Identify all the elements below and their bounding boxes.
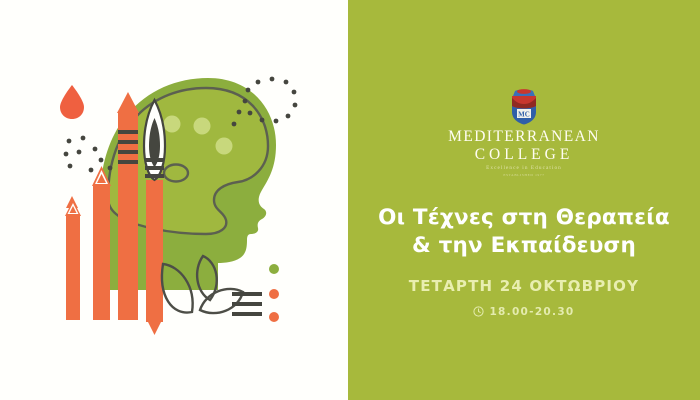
logo-subtagline: ESTABLISHED 1977 xyxy=(503,173,544,177)
logo-line-mediterranean: MEDITERRANEAN xyxy=(448,129,600,145)
event-title-line-1: Οι Τέχνες στη Θεραπεία xyxy=(364,204,684,232)
content-panel: MC MEDITERRANEAN COLLEGE Excellence in E… xyxy=(348,0,700,400)
paintbrush xyxy=(144,100,165,335)
event-title: Οι Τέχνες στη Θεραπεία & την Εκπαίδευση xyxy=(364,204,684,261)
event-poster: MC MEDITERRANEAN COLLEGE Excellence in E… xyxy=(0,0,700,400)
pencil-small xyxy=(65,200,81,320)
logo-tagline: Excellence in Education xyxy=(486,165,562,171)
crest-initials: MC xyxy=(518,110,530,118)
event-title-line-2: & την Εκπαίδευση xyxy=(364,232,684,260)
pencil-tall xyxy=(117,92,139,320)
event-time-row: 18.00-20.30 xyxy=(473,306,574,318)
logo-line-college: COLLEGE xyxy=(475,147,574,163)
illustration-panel xyxy=(0,0,348,400)
paint-well xyxy=(164,116,181,133)
paint-well xyxy=(216,138,233,155)
pencil-medium xyxy=(92,166,111,320)
event-date: ΤΕΤΑΡΤΗ 24 ΟΚΤΩΒΡΙΟΥ xyxy=(409,277,639,295)
clock-icon xyxy=(473,306,484,317)
dot-orange xyxy=(269,312,279,322)
art-therapy-head-illustration xyxy=(0,0,348,400)
water-drop xyxy=(60,85,84,119)
mediterranean-college-crest-icon: MC xyxy=(507,88,541,126)
dot-orange xyxy=(269,289,279,299)
event-time: 18.00-20.30 xyxy=(489,306,574,318)
line-marks xyxy=(232,292,262,316)
paint-well xyxy=(194,118,211,135)
dot-green xyxy=(269,264,279,274)
college-logo: MC MEDITERRANEAN COLLEGE Excellence in E… xyxy=(348,88,700,177)
